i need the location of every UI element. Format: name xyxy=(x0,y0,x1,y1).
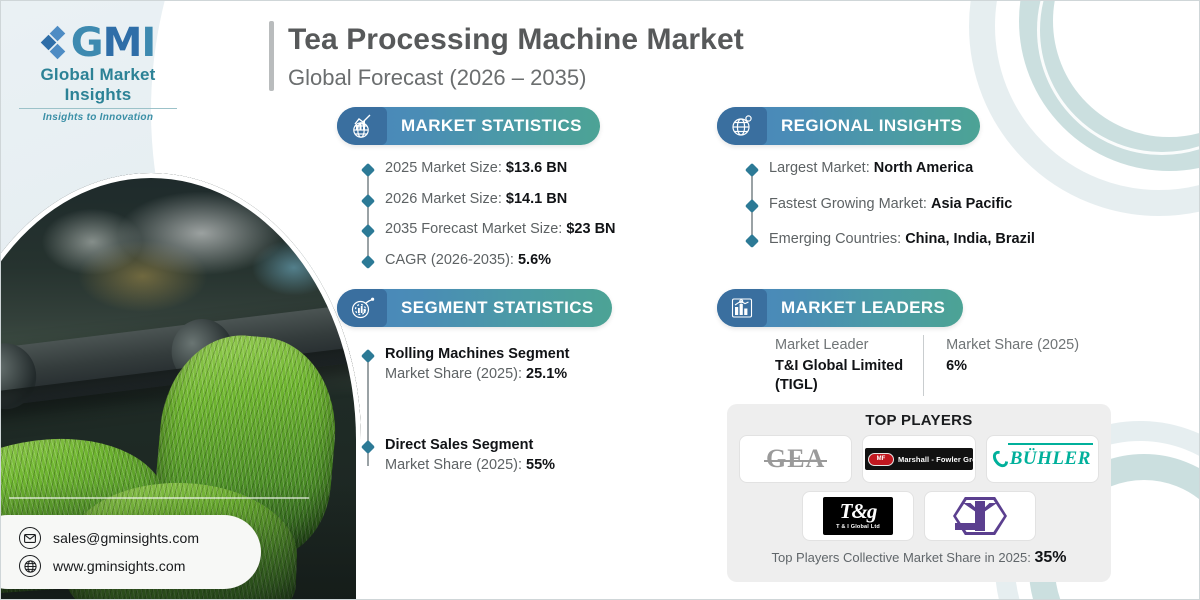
list-item: Rolling Machines Segment Market Share (2… xyxy=(361,345,661,384)
gmi-company-name: Global Market Insights xyxy=(13,65,183,105)
bullet-diamond-icon xyxy=(361,224,375,238)
timeline-track xyxy=(367,168,369,261)
mfg-logo-text: Marshall - Fowler Group xyxy=(898,455,976,464)
section-header-regional-insights[interactable]: REGIONAL INSIGHTS xyxy=(717,107,980,145)
market-leader-name-line1: T&I Global Limited xyxy=(775,357,903,377)
top-players-row-1: GEA MF Marshall - Fowler Group BÜHLER xyxy=(739,435,1099,483)
region-value: North America xyxy=(874,160,973,176)
stat-label: 2025 Market Size: xyxy=(385,160,502,176)
player-logo-buhler[interactable]: BÜHLER xyxy=(986,435,1099,483)
top-players-share-label: Top Players Collective Market Share in 2… xyxy=(771,550,1030,565)
tigl-logo: T&g T & I Global Ltd xyxy=(823,497,893,535)
list-item: 2026 Market Size: $14.1 BN xyxy=(361,190,661,210)
bullet-diamond-icon xyxy=(745,198,759,212)
bullet-diamond-icon xyxy=(745,234,759,248)
section-title-segment-statistics: SEGMENT STATISTICS xyxy=(387,298,612,318)
section-title-regional-insights: REGIONAL INSIGHTS xyxy=(767,116,980,136)
section-header-market-statistics[interactable]: MARKET STATISTICS xyxy=(337,107,600,145)
market-share-value: 6% xyxy=(946,357,1079,377)
buhler-logo: BÜHLER xyxy=(994,448,1091,470)
market-leader-column: Market Leader T&I Global Limited (TIGL) xyxy=(775,335,923,396)
segment-statistics-list: Rolling Machines Segment Market Share (2… xyxy=(361,345,661,475)
tigl-logo-text: T & I Global Ltd xyxy=(836,524,880,530)
list-item: 2025 Market Size: $13.6 BN xyxy=(361,159,661,179)
stat-label: CAGR (2026-2035): xyxy=(385,252,514,268)
top-players-footer: Top Players Collective Market Share in 2… xyxy=(739,549,1099,567)
bullet-diamond-icon xyxy=(361,440,375,454)
list-item: Direct Sales Segment Market Share (2025)… xyxy=(361,436,661,475)
marshall-fowler-group-logo: MF Marshall - Fowler Group xyxy=(865,448,973,470)
tigl-monogram-icon: T&g xyxy=(840,502,877,522)
list-item: 2035 Forecast Market Size: $23 BN xyxy=(361,220,661,240)
region-label: Fastest Growing Market: xyxy=(769,196,927,212)
section-header-market-leaders[interactable]: MARKET LEADERS xyxy=(717,289,963,327)
top-players-panel: TOP PLAYERS GEA MF Marshall - Fowler Gro… xyxy=(727,404,1111,582)
player-logo-hex-emblem[interactable] xyxy=(924,491,1036,541)
market-share-label: Market Share (2025) xyxy=(946,335,1079,357)
player-logo-gea[interactable]: GEA xyxy=(739,435,852,483)
globe-icon xyxy=(19,555,41,577)
top-players-title: TOP PLAYERS xyxy=(739,412,1099,429)
list-item: Fastest Growing Market: Asia Pacific xyxy=(745,195,1145,215)
contact-website: www.gminsights.com xyxy=(53,558,186,574)
stat-label: 2026 Market Size: xyxy=(385,191,502,207)
hex-bar-icon xyxy=(955,523,985,530)
market-leader-label: Market Leader xyxy=(775,335,903,357)
gmi-diamonds-icon xyxy=(41,26,67,60)
segment-share-value: 55% xyxy=(526,457,555,473)
gmi-logo-top: GMI xyxy=(13,23,183,63)
contact-email-row[interactable]: sales@gminsights.com xyxy=(19,527,261,549)
bullet-diamond-icon xyxy=(361,255,375,269)
regional-insights-list: Largest Market: North America Fastest Gr… xyxy=(745,159,1145,250)
buhler-arc-icon xyxy=(990,448,1011,470)
region-value: Asia Pacific xyxy=(931,196,1012,212)
segment-analytics-icon xyxy=(337,289,387,327)
page-title-block: Tea Processing Machine Market Global For… xyxy=(269,21,744,91)
mfg-red-badge-icon: MF xyxy=(868,453,894,466)
contact-email: sales@gminsights.com xyxy=(53,530,199,546)
globe-chart-icon xyxy=(337,107,387,145)
hex-emblem-logo xyxy=(953,497,1007,535)
region-label: Emerging Countries: xyxy=(769,231,901,247)
gmi-logo-text: GMI xyxy=(71,23,156,63)
section-header-segment-statistics[interactable]: SEGMENT STATISTICS xyxy=(337,289,612,327)
segment-share-label: Market Share (2025): xyxy=(385,366,522,382)
top-players-row-2: T&g T & I Global Ltd xyxy=(739,491,1099,541)
market-share-column: Market Share (2025) 6% xyxy=(923,335,1099,396)
section-title-market-statistics: MARKET STATISTICS xyxy=(387,116,600,136)
contact-panel: sales@gminsights.com www.gminsights.com xyxy=(0,515,261,589)
contact-website-row[interactable]: www.gminsights.com xyxy=(19,555,261,577)
gmi-tagline: Insights to Innovation xyxy=(13,112,183,123)
player-logo-tigl[interactable]: T&g T & I Global Ltd xyxy=(802,491,914,541)
title-accent-bar xyxy=(269,21,274,91)
page-title: Tea Processing Machine Market xyxy=(288,21,744,59)
bullet-diamond-icon xyxy=(361,193,375,207)
bullet-diamond-icon xyxy=(361,163,375,177)
stat-value: $14.1 BN xyxy=(506,191,567,207)
list-item: Emerging Countries: China, India, Brazil xyxy=(745,230,1145,250)
stat-value: $23 BN xyxy=(566,221,615,237)
list-item: Largest Market: North America xyxy=(745,159,1145,179)
list-item: CAGR (2026-2035): 5.6% xyxy=(361,251,661,271)
market-leader-name-line2: (TIGL) xyxy=(775,376,903,396)
bullet-diamond-icon xyxy=(745,163,759,177)
page-subtitle: Global Forecast (2026 – 2035) xyxy=(288,65,744,91)
infographic-root: GMI Global Market Insights Insights to I… xyxy=(0,0,1200,600)
section-title-market-leaders: MARKET LEADERS xyxy=(767,298,963,318)
player-logo-marshall-fowler[interactable]: MF Marshall - Fowler Group xyxy=(862,435,975,483)
top-players-share-value: 35% xyxy=(1035,549,1067,566)
globe-pin-icon xyxy=(717,107,767,145)
segment-name: Direct Sales Segment xyxy=(385,437,533,453)
market-leader-detail: Market Leader T&I Global Limited (TIGL) … xyxy=(775,335,1099,396)
market-statistics-list: 2025 Market Size: $13.6 BN 2026 Market S… xyxy=(361,159,661,270)
segment-share-label: Market Share (2025): xyxy=(385,457,522,473)
buhler-logo-text: BÜHLER xyxy=(1010,448,1091,470)
stat-value: $13.6 BN xyxy=(506,160,567,176)
region-value: China, India, Brazil xyxy=(905,231,1035,247)
segment-name: Rolling Machines Segment xyxy=(385,346,570,362)
bullet-diamond-icon xyxy=(361,349,375,363)
stat-label: 2035 Forecast Market Size: xyxy=(385,221,562,237)
region-label: Largest Market: xyxy=(769,160,870,176)
gea-logo-text: GEA xyxy=(766,444,825,474)
stat-value: 5.6% xyxy=(518,252,551,268)
photo-divider-line xyxy=(9,497,309,499)
segment-share-value: 25.1% xyxy=(526,366,567,382)
gmi-logo-rule xyxy=(19,108,177,109)
gmi-logo[interactable]: GMI Global Market Insights Insights to I… xyxy=(13,23,183,123)
city-chart-icon xyxy=(717,289,767,327)
envelope-icon xyxy=(19,527,41,549)
